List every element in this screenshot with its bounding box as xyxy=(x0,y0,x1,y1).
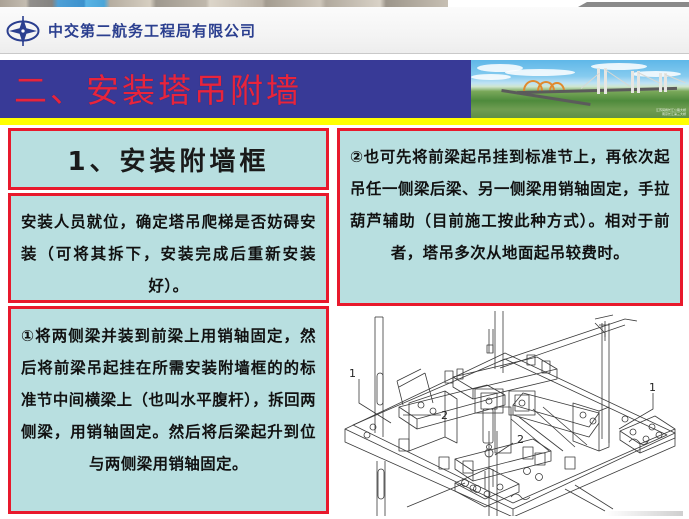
yellow-divider-bar xyxy=(0,118,689,125)
top-filmstrip xyxy=(0,0,448,7)
company-header: 中交第二航务工程局有限公司 xyxy=(0,7,689,54)
drawing-bottom-shadow xyxy=(605,511,683,516)
note-text: 安装人员就位，确定塔吊爬梯是否妨碍安装（可将其拆下，安装完成后重新安装好）。 xyxy=(11,196,326,311)
page-title: 二、安装塔吊附墙 xyxy=(14,64,302,112)
step-one-box: ①将两侧梁并装到前梁上用销轴固定，然后将前梁吊起挂在所需安装附墙框的的标准节中间… xyxy=(8,306,329,514)
slide-content: 1、安装附墙框 安装人员就位，确定塔吊爬梯是否妨碍安装（可将其拆下，安装完成后重… xyxy=(0,125,689,519)
suspension-bridge-photo: 江苏润扬长江公路大桥南京长江第三大桥 xyxy=(471,60,689,118)
section-heading-text: 1、安装附墙框 xyxy=(67,141,269,178)
callout-1-left: 1 xyxy=(349,367,356,380)
section-heading-box: 1、安装附墙框 xyxy=(8,128,329,190)
company-name: 中交第二航务工程局有限公司 xyxy=(48,20,256,41)
step-one-text: ①将两侧梁并装到前梁上用销轴固定，然后将前梁吊起挂在所需安装附墙框的的标准节中间… xyxy=(11,309,326,489)
callout-2-right: 2 xyxy=(517,433,524,446)
slide-title-band: 二、安装塔吊附墙 江苏润扬长江公路大桥南京长江第三大桥 xyxy=(0,60,689,118)
callout-2-left: 2 xyxy=(441,409,448,422)
tower-crane-wall-attachment-diagram: 1 1 2 2 xyxy=(337,311,683,516)
compass-star-logo-icon xyxy=(6,14,40,48)
callout-1-right: 1 xyxy=(649,381,656,394)
left-column: 1、安装附墙框 安装人员就位，确定塔吊爬梯是否妨碍安装（可将其拆下，安装完成后重… xyxy=(8,128,329,517)
right-column: ②也可先将前梁起吊挂到标准节上，再依次起吊任一侧梁后梁、另一侧梁用销轴固定，手拉… xyxy=(337,128,683,309)
note-box: 安装人员就位，确定塔吊爬梯是否妨碍安装（可将其拆下，安装完成后重新安装好）。 xyxy=(8,193,329,303)
step-two-text: ②也可先将前梁起吊挂到标准节上，再依次起吊任一侧梁后梁、另一侧梁用销轴固定，手拉… xyxy=(340,131,680,278)
photo-caption: 江苏润扬长江公路大桥南京长江第三大桥 xyxy=(656,108,686,116)
header-divider xyxy=(0,53,689,54)
step-two-box: ②也可先将前梁起吊挂到标准节上，再依次起吊任一侧梁后梁、另一侧梁用销轴固定，手拉… xyxy=(337,128,683,306)
